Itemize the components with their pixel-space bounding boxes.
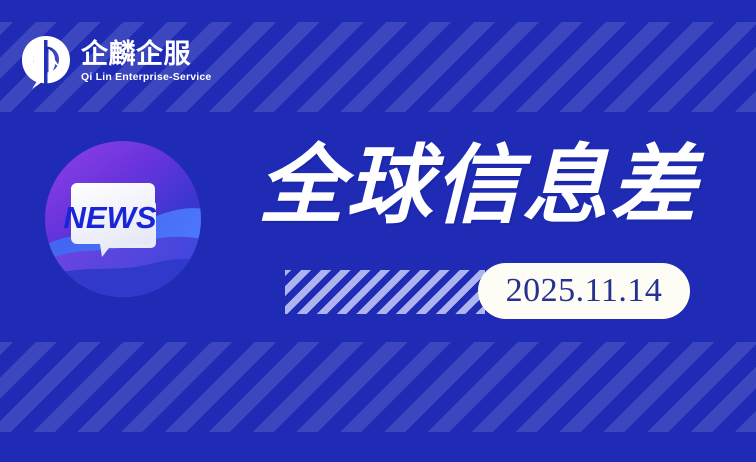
poster-canvas: 企麟企服 Qi Lin Enterprise-Service [0,0,756,462]
date-badge: 2025.11.14 [478,263,690,319]
decorative-stripe-block [285,270,485,314]
news-badge: NEWS [44,140,202,298]
bottom-diagonal-stripe-band [0,342,756,432]
brand-name-en: Qi Lin Enterprise-Service [81,72,211,83]
speech-bubble-circle-logo-icon [20,34,72,89]
news-badge-label: NEWS [64,200,157,235]
brand-name-cn: 企麟企服 [81,41,211,68]
date-text: 2025.11.14 [506,272,663,310]
page-title: 全球信息差 [258,143,738,229]
brand-text-group: 企麟企服 Qi Lin Enterprise-Service [81,41,211,83]
brand-logo-lockup: 企麟企服 Qi Lin Enterprise-Service [20,34,211,89]
